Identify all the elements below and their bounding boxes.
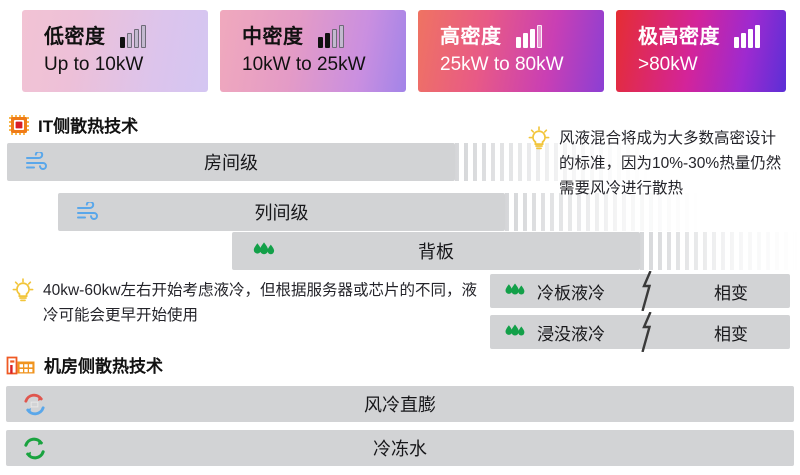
- density-card-title: 高密度: [440, 26, 502, 48]
- water-drops-icon: [502, 282, 528, 301]
- density-card-range: >80kW: [638, 55, 786, 76]
- density-card-range: 10kW to 25kW: [242, 55, 406, 76]
- room-section-label: 机房侧散热技术: [44, 352, 163, 377]
- density-card-low[interactable]: 低密度 Up to 10kW: [22, 10, 208, 92]
- wind-icon: [76, 202, 102, 222]
- density-card-medium[interactable]: 中密度 10kW to 25kW: [220, 10, 406, 92]
- lightning-bolt-icon: [637, 312, 657, 357]
- density-card-range: 25kW to 80kW: [440, 55, 604, 76]
- density-card-heading: 中密度: [242, 26, 406, 48]
- it-row-label: 背板: [232, 238, 640, 264]
- liquid-row-cold-plate[interactable]: 冷板液冷 相变: [490, 274, 790, 308]
- note-air-liquid-mix: 风液混合将成为大多数高密设计的标准，因为10%-30%热量仍然需要风冷进行散热: [528, 126, 790, 201]
- liquid-row-phase: 相变: [714, 279, 748, 304]
- room-row-label: 风冷直膨: [6, 391, 794, 417]
- liquid-row-name: 浸没液冷: [537, 320, 605, 345]
- density-card-strip: 低密度 Up to 10kW 中密度 10kW to 25kW 高密度: [0, 0, 800, 104]
- density-card-range: Up to 10kW: [44, 55, 208, 76]
- infographic-canvas: 低密度 Up to 10kW 中密度 10kW to 25kW 高密度: [0, 0, 800, 475]
- density-card-title: 中密度: [242, 26, 304, 48]
- note-text: 风液混合将成为大多数高密设计的标准，因为10%-30%热量仍然需要风冷进行散热: [559, 126, 790, 201]
- signal-bars-icon: [734, 26, 760, 48]
- room-section-header: 机房侧散热技术: [6, 352, 163, 377]
- water-drops-icon: [250, 241, 278, 261]
- it-row-label: 房间级: [7, 149, 455, 175]
- signal-bars-icon: [120, 26, 146, 48]
- signal-bars-icon: [516, 26, 542, 48]
- liquid-row-phase: 相变: [714, 320, 748, 345]
- room-row-label: 冷冻水: [6, 435, 794, 461]
- density-card-heading: 高密度: [440, 26, 604, 48]
- lightbulb-icon: [12, 278, 34, 307]
- it-row-backplane[interactable]: 背板: [232, 232, 640, 270]
- factory-building-icon: [6, 354, 36, 376]
- liquid-row-name: 冷板液冷: [537, 279, 605, 304]
- wind-icon: [25, 152, 51, 172]
- density-card-title: 极高密度: [638, 26, 720, 48]
- lightning-bolt-icon: [637, 271, 657, 316]
- it-row-room-level[interactable]: 房间级: [7, 143, 455, 181]
- it-row-backplane-fade: [640, 232, 800, 270]
- room-row-direct-expansion[interactable]: 风冷直膨: [6, 386, 794, 422]
- cpu-chip-icon: [8, 114, 30, 136]
- room-row-chilled-water[interactable]: 冷冻水: [6, 430, 794, 466]
- note-text: 40kw-60kw左右开始考虑液冷，但根据服务器或芯片的不同，液冷可能会更早开始…: [43, 278, 482, 328]
- density-card-heading: 极高密度: [638, 26, 786, 48]
- it-section-header: IT侧散热技术: [8, 112, 138, 137]
- it-row-in-row-level[interactable]: 列间级: [58, 193, 505, 231]
- density-card-extreme[interactable]: 极高密度 >80kW: [616, 10, 786, 92]
- water-drops-icon: [502, 323, 528, 342]
- density-card-title: 低密度: [44, 26, 106, 48]
- it-row-label: 列间级: [58, 199, 505, 225]
- liquid-row-immersion[interactable]: 浸没液冷 相变: [490, 315, 790, 349]
- it-section-label: IT侧散热技术: [38, 112, 138, 137]
- lightbulb-icon: [528, 126, 550, 155]
- note-liquid-threshold: 40kw-60kw左右开始考虑液冷，但根据服务器或芯片的不同，液冷可能会更早开始…: [12, 278, 482, 328]
- signal-bars-icon: [318, 26, 344, 48]
- density-card-heading: 低密度: [44, 26, 208, 48]
- density-card-high[interactable]: 高密度 25kW to 80kW: [418, 10, 604, 92]
